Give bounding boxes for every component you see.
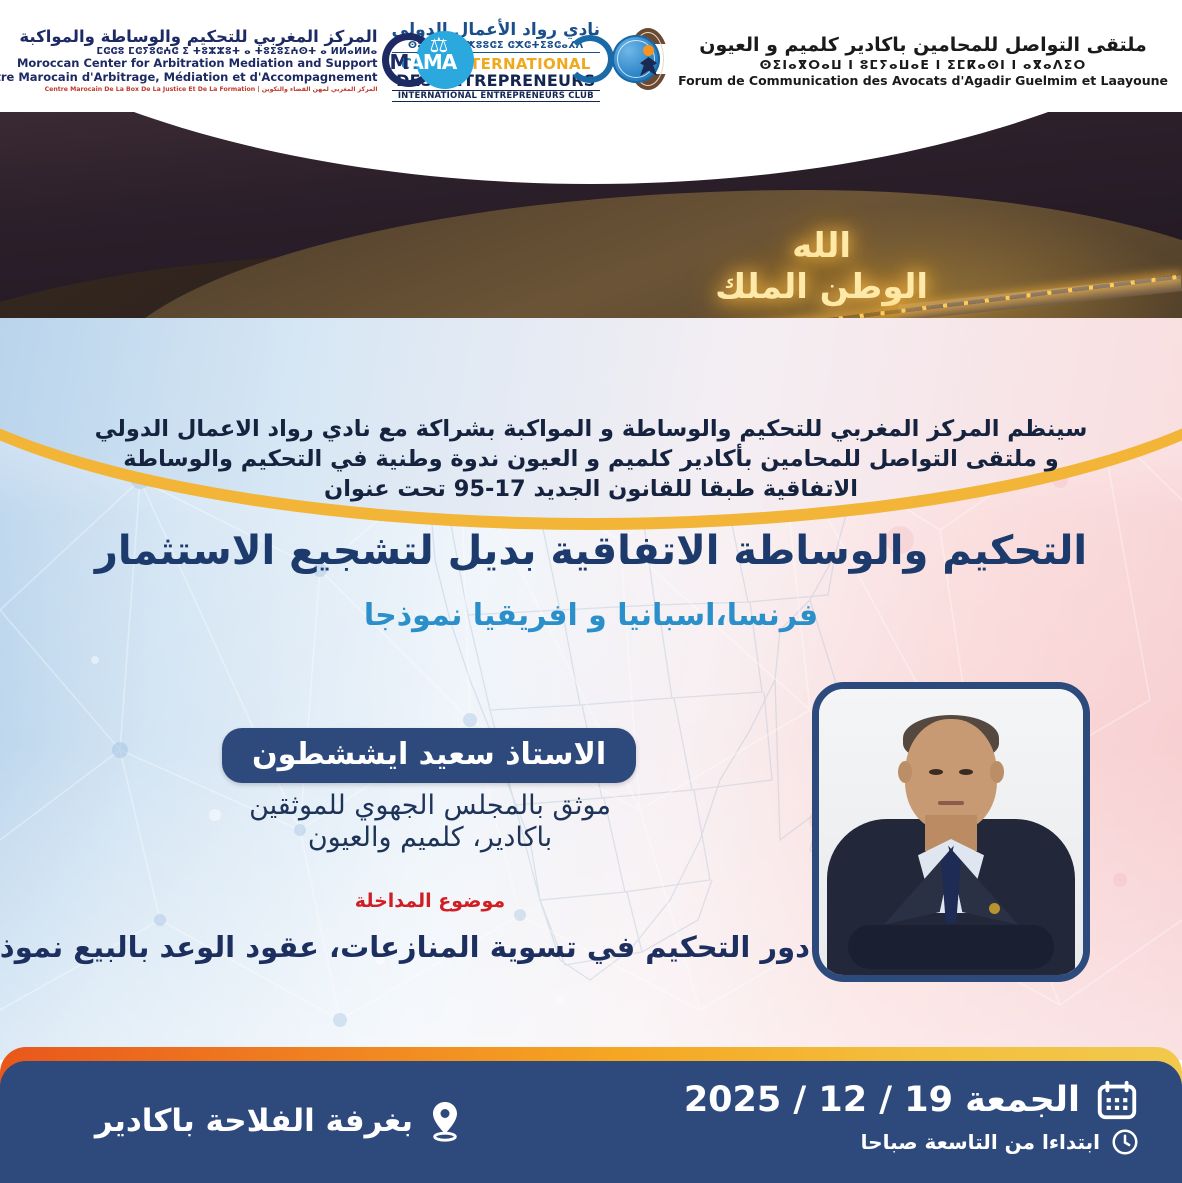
person-figure-icon <box>640 45 657 75</box>
clock-icon <box>1110 1127 1140 1157</box>
speaker-role-line-2: باكادير، كلميم والعيون <box>150 822 710 854</box>
event-date: الجمعة 19 / 12 / 2025 <box>684 1080 1080 1120</box>
calligraphy-line-1: الله <box>792 226 851 266</box>
event-time: ابتداءا من التاسعة صباحا <box>861 1130 1100 1154</box>
intro-line-2: و ملتقى التواصل للمحامين بأكادير كلميم و… <box>50 444 1132 474</box>
event-title: التحكيم والوساطة الاتفاقية بديل لتشجيع ا… <box>40 528 1142 574</box>
topic-text: دور التحكيم في تسوية المنازعات، عقود الو… <box>10 930 810 964</box>
cmama-wordmark: المركز المغربي للتحكيم والوساطة والمواكب… <box>0 25 378 92</box>
intro-paragraph: سينظم المركز المغربي للتحكيم والوساطة و … <box>50 414 1132 504</box>
portrait-lapel-pin <box>989 903 1000 914</box>
speaker-name-badge: الاستاذ سعيد ايششطون <box>222 728 636 783</box>
forum-logo-french: Forum de Communication des Avocats d'Aga… <box>678 73 1168 88</box>
portrait-crossed-arms <box>848 925 1054 969</box>
cmama-mark-text: MAMA <box>390 50 457 74</box>
logo-header-bar: ملتقى التواصل للمحامين باكادير كلميم و ا… <box>0 0 1182 112</box>
map-pin-icon <box>425 1099 465 1143</box>
event-poster: الله الوطن الملك <box>0 0 1182 1183</box>
intro-line-1: سينظم المركز المغربي للتحكيم والوساطة و … <box>50 414 1132 444</box>
footer-venue: بغرفة الفلاحة باكادير <box>0 1099 560 1143</box>
intro-line-3: الاتفاقية طبقا للقانون الجديد 17-95 تحت … <box>50 474 1132 504</box>
hillside-calligraphy: الله الوطن الملك <box>715 226 928 309</box>
event-subtitle: فرنسا،اسبانيا و افريقيا نموذجا <box>40 598 1142 633</box>
cmama-english: Moroccan Center for Arbitration Mediatio… <box>0 57 378 71</box>
forum-logo-tifinagh: ⵙⵉⵏⴰⴳⵔⴰⵡ ⵏ ⵓⵎⵢⴰⵡⴰⴹ ⵏ ⵉⵎⴽⴰⵙⵏ ⵏ ⴰⴳⴰⴷⵉⵔ <box>678 57 1168 72</box>
speaker-portrait <box>812 682 1090 982</box>
calendar-icon <box>1094 1077 1140 1123</box>
cmama-french: Centre Marocain d'Arbitrage, Médiation e… <box>0 71 378 85</box>
footer-bar: الجمعة 19 / 12 / 2025 ابتداءا من التاسعة… <box>0 1047 1182 1183</box>
calligraphy-line-2: الوطن الملك <box>715 267 928 307</box>
speaker-role-line-1: موثق بالمجلس الجهوي للموثقين <box>150 790 710 822</box>
forum-logo-arabic: ملتقى التواصل للمحامين باكادير كلميم و ا… <box>678 34 1168 56</box>
venue-name: بغرفة الفلاحة باكادير <box>95 1103 413 1139</box>
footer-datetime: الجمعة 19 / 12 / 2025 ابتداءا من التاسعة… <box>684 1077 1140 1157</box>
cie-line-3: INTERNATIONAL ENTREPRENEURS CLUB <box>392 90 601 102</box>
forum-logo: ملتقى التواصل للمحامين باكادير كلميم و ا… <box>678 30 1168 88</box>
letter-e-ring-icon <box>566 35 614 83</box>
cmama-arabic: المركز المغربي للتحكيم والوساطة والمواكب… <box>0 27 378 46</box>
speaker-role: موثق بالمجلس الجهوي للموثقين باكادير، كل… <box>150 790 710 855</box>
topic-label: موضوع المداخلة <box>150 890 710 912</box>
cmama-micro-text: المركز المغربي لمهن القضاء والتكوين | Ce… <box>0 86 378 93</box>
